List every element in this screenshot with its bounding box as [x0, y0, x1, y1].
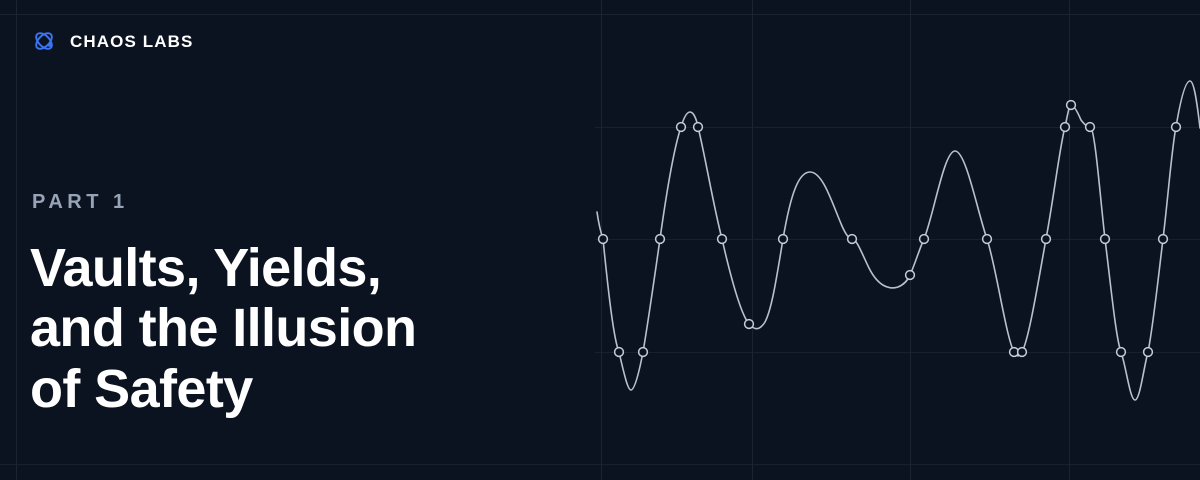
- page-title-line-2: and the Illusion: [30, 298, 530, 358]
- data-point: [1159, 235, 1168, 244]
- data-point: [718, 235, 727, 244]
- data-point: [1042, 235, 1051, 244]
- data-point: [1117, 348, 1126, 357]
- data-point: [1061, 123, 1070, 132]
- data-point: [1144, 348, 1153, 357]
- data-point: [1067, 101, 1076, 110]
- hero-banner: CHAOS LABS PART 1 Vaults, Yields, and th…: [0, 0, 1200, 480]
- data-point: [694, 123, 703, 132]
- data-point: [599, 235, 608, 244]
- data-point: [1018, 348, 1027, 357]
- data-point: [677, 123, 686, 132]
- data-point: [1086, 123, 1095, 132]
- data-point: [983, 235, 992, 244]
- data-point: [639, 348, 648, 357]
- data-point: [920, 235, 929, 244]
- data-point: [615, 348, 624, 357]
- data-point: [745, 320, 754, 329]
- page-title-line-3: of Safety: [30, 359, 530, 419]
- brand-name: CHAOS LABS: [70, 33, 193, 50]
- data-point: [656, 235, 665, 244]
- data-point: [848, 235, 857, 244]
- data-point: [906, 271, 915, 280]
- data-point: [1172, 123, 1181, 132]
- data-point: [779, 235, 788, 244]
- page-title: Vaults, Yields, and the Illusion of Safe…: [30, 238, 530, 419]
- brand-lockup[interactable]: CHAOS LABS: [30, 27, 193, 55]
- logo-node-icon: [48, 43, 52, 47]
- page-title-line-1: Vaults, Yields,: [30, 238, 530, 298]
- data-point: [1101, 235, 1110, 244]
- part-label: PART 1: [32, 192, 129, 212]
- chaos-atom-logo-icon: [30, 27, 58, 55]
- hero-content: CHAOS LABS PART 1 Vaults, Yields, and th…: [0, 0, 560, 480]
